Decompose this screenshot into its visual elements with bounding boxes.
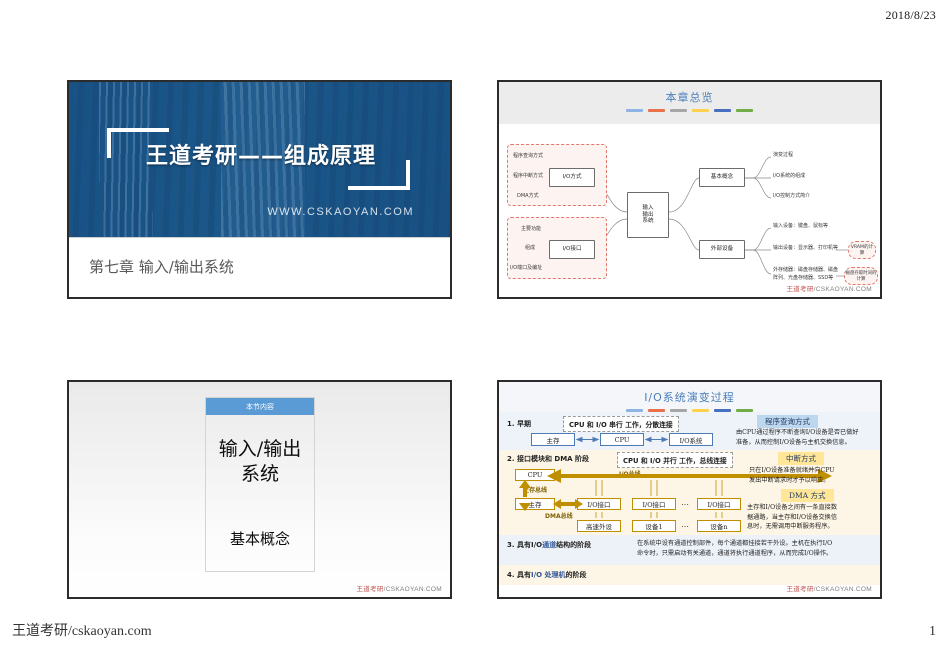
chapter-overview-title: 本章总览 [499, 82, 880, 105]
mindmap-leaf-evolution: 演变过程 [773, 152, 793, 160]
slide-title-subtitle-bar: 第七章 输入/输出系统 [69, 237, 450, 299]
slide-title-text: 王道考研——组成原理 [111, 138, 411, 170]
chapter-overview-header: 本章总览 [499, 82, 880, 124]
mindmap-leaf-io-system-composition: I/O系统的组成 [773, 173, 805, 181]
watermark-domain: /CSKAOYAN.COM [814, 286, 872, 293]
slide-watermark: 王道考研/CSKAOYAN.COM [786, 583, 872, 593]
dash-green [736, 109, 753, 112]
section-content-card: 本节内容 输入/输出 系统 基本概念 [205, 397, 315, 572]
mindmap-leaf-external-storage: 外存储器：磁盘存储器、磁盘 阵列、光盘存储器、SSD等 [773, 267, 838, 282]
slide-section-divider[interactable]: 本节内容 输入/输出 系统 基本概念 王道考研/CSKAOYAN.COM [67, 380, 452, 599]
mindmap-canvas: 输入 输出 系统 I/O方式 I/O接口 基本概念 外部设备 程序查询方式 程序… [499, 124, 880, 299]
io-evolution-header: I/O系统演变过程 [499, 382, 880, 412]
mindmap-leaf-composition: 组成 [525, 245, 535, 253]
slide-watermark: 王道考研/CSKAOYAN.COM [356, 583, 442, 593]
section-card-header: 本节内容 [206, 398, 314, 415]
mindmap-node-basic-concepts[interactable]: 基本概念 [699, 168, 745, 187]
stage4-number: 4. 具有I/O 处理机的阶段 [507, 570, 587, 580]
slide-io-evolution[interactable]: I/O系统演变过程 1. 早期 CPU 和 I/O 串行 工作，分散连接 主存 … [497, 380, 882, 599]
section-second-title: 基本概念 [206, 528, 314, 549]
mindmap-leaf-program-query: 程序查询方式 [513, 153, 543, 161]
io-evolution-title: I/O系统演变过程 [499, 382, 880, 405]
watermark-brand: 王道考研 [786, 586, 813, 593]
mindmap-leaf-main-function: 主要功能 [521, 226, 541, 234]
mindmap-node-external-devices[interactable]: 外部设备 [699, 240, 745, 259]
slide-watermark: 王道考研/CSKAOYAN.COM [786, 283, 872, 293]
mindmap-leaf-dma: DMA方式 [517, 193, 539, 201]
mindmap-leaf-output-devices: 输出设备：显示器、打印机等 [773, 245, 838, 253]
dash-blue-dark [714, 109, 731, 112]
header-dash-row [499, 109, 880, 112]
panel-tag-program-query: 程序查询方式 [757, 415, 818, 428]
watermark-brand: 王道考研 [786, 286, 813, 293]
page-footer-left: 王道考研/cskaoyan.com [12, 620, 152, 640]
mindmap-node-io-methods[interactable]: I/O方式 [549, 168, 595, 187]
mindmap-node-io-interface[interactable]: I/O接口 [549, 240, 595, 259]
section-main-title: 输入/输出 系统 [206, 437, 314, 486]
mindmap-leaf-io-port-addressing: I/O端口及编址 [510, 265, 542, 273]
dash-yellow [692, 109, 709, 112]
io-evolution-body: 1. 早期 CPU 和 I/O 串行 工作，分散连接 主存 CPU I/O系统 … [499, 412, 880, 599]
slide-chapter-overview[interactable]: 本章总览 [497, 80, 882, 299]
dash-orange [648, 109, 665, 112]
page-number: 1 [929, 624, 936, 640]
slide-title[interactable]: 王道考研——组成原理 WWW.CSKAOYAN.COM 第七章 输入/输出系统 [67, 80, 452, 299]
slide-title-url: WWW.CSKAOYAN.COM [267, 206, 414, 218]
panel-tag-interrupt: 中断方式 [778, 452, 824, 465]
mindmap-leaf-program-interrupt: 程序中断方式 [513, 173, 543, 181]
watermark-domain: /CSKAOYAN.COM [384, 586, 442, 593]
stage3-description: 在系统中设有通道控制部件，每个通道都挂接若干外设。主机在执行I/O 命令时，只需… [637, 539, 877, 558]
slide-title-subtitle-text: 第七章 输入/输出系统 [89, 256, 234, 277]
dash-gray [670, 109, 687, 112]
dash-blue-light [626, 109, 643, 112]
mindmap-leaf-io-control-intro: I/O控制方式简介 [773, 193, 810, 201]
page-date: 2018/8/23 [886, 8, 936, 23]
panel-text-dma: 主存和I/O设备之间有一条直接数 据通路，当主存和I/O设备交换信 息时，无需调… [747, 503, 881, 532]
watermark-domain: /CSKAOYAN.COM [814, 586, 872, 593]
mindmap-node-vram-calculation[interactable]: VRAM的计算 [848, 241, 876, 259]
stage3-number: 3. 具有I/O通道结构的阶段 [507, 540, 591, 550]
panel-text-interrupt: 只在I/O设备准备就绪并向CPU 发出中断请求时才予以响应。 [749, 466, 881, 485]
watermark-brand: 王道考研 [356, 586, 383, 593]
panel-tag-dma: DMA 方式 [781, 489, 834, 502]
panel-text-program-query: 由CPU通过程序不断查询I/O设备是否已做好 准备，从而控制I/O设备与主机交换… [736, 428, 880, 447]
mindmap-leaf-input-devices: 输入设备：键盘、鼠标等 [773, 223, 828, 231]
mindmap-center-node[interactable]: 输入 输出 系统 [627, 192, 669, 238]
